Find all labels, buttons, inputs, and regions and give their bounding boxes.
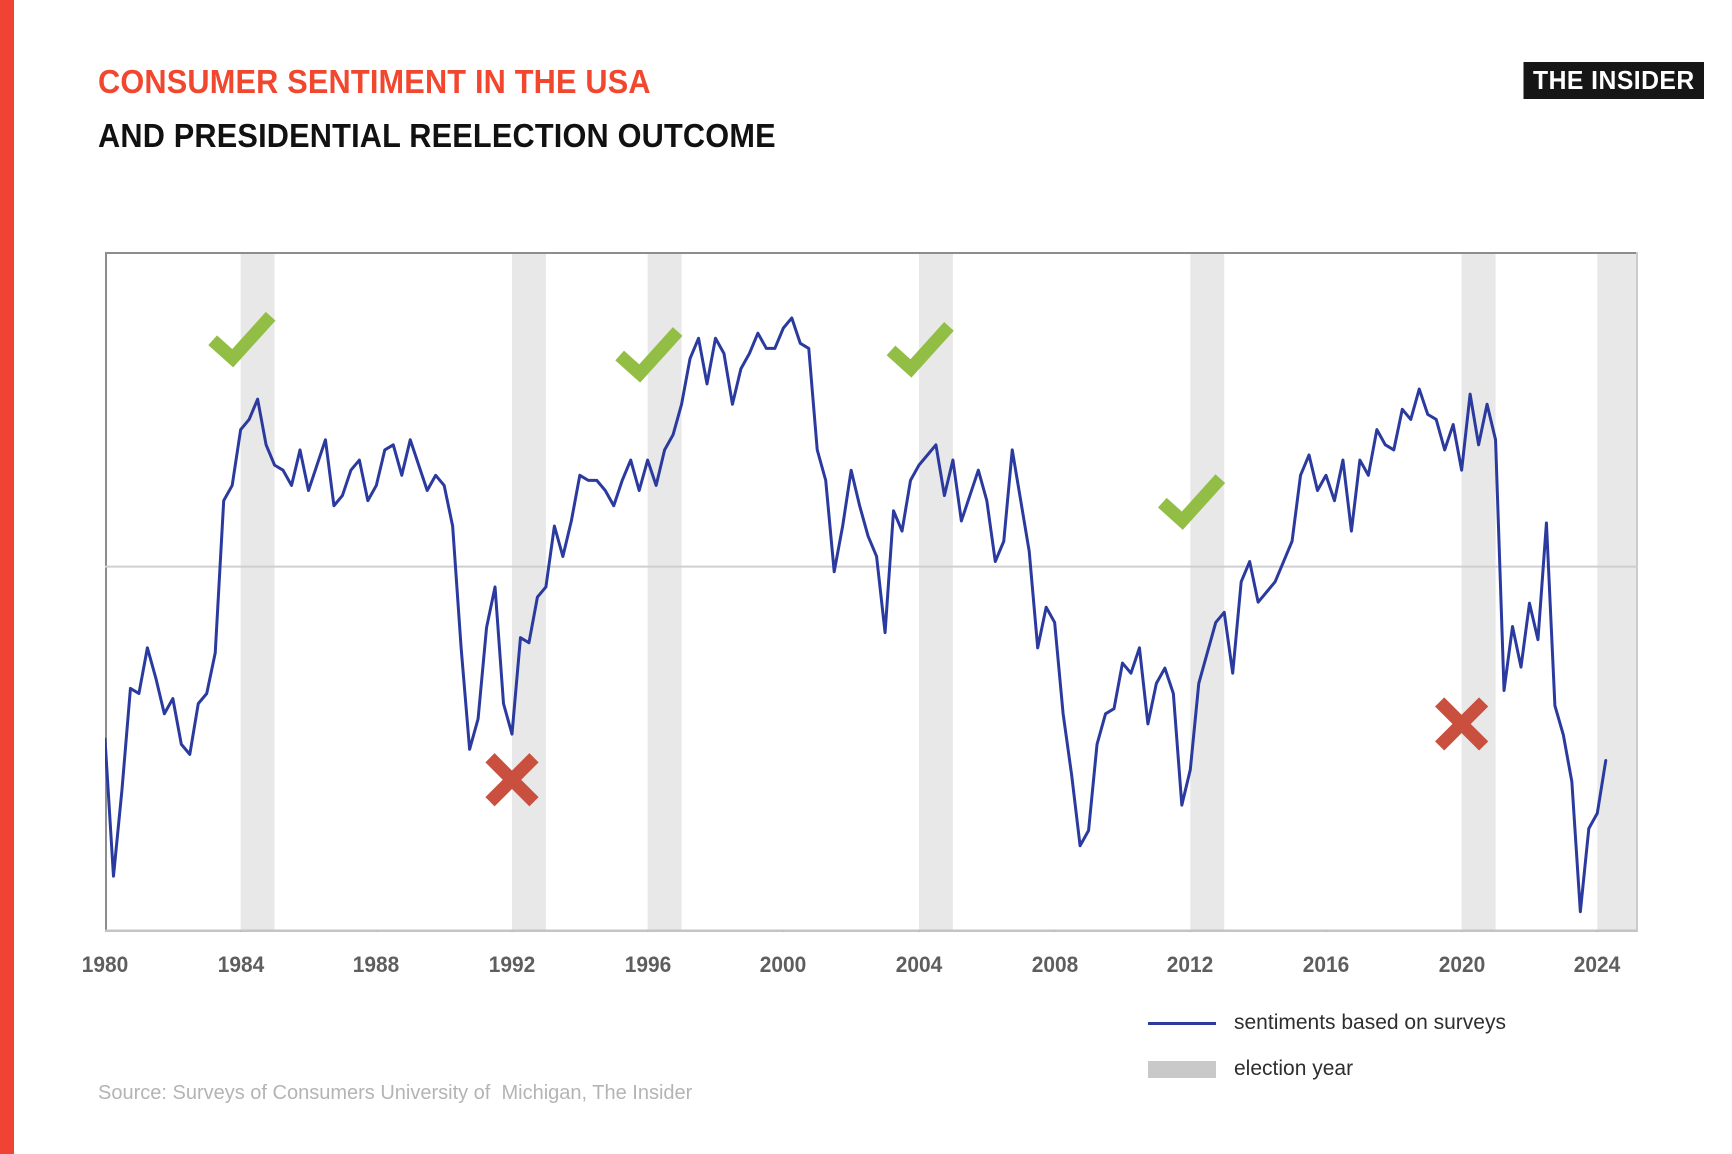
x-axis-label: 2016 <box>1303 952 1350 978</box>
page-title: CONSUMER SENTIMENT IN THE USA <box>98 62 776 102</box>
election-year-band <box>241 252 275 932</box>
insider-logo: THE INSIDER <box>1523 62 1704 99</box>
election-year-band <box>1462 252 1496 932</box>
chart-plot-area <box>105 252 1638 932</box>
legend-label: sentiments based on surveys <box>1234 1011 1506 1035</box>
page-subtitle: AND PRESIDENTIAL REELECTION OUTCOME <box>98 116 776 156</box>
election-year-band <box>1597 252 1638 932</box>
sentiment-line <box>105 318 1606 912</box>
x-axis-label: 2012 <box>1167 952 1214 978</box>
x-axis-label: 1996 <box>624 952 671 978</box>
x-axis-label: 2004 <box>896 952 943 978</box>
chart-legend: sentiments based on surveyselection year <box>1148 1006 1578 1098</box>
x-axis-label: 2024 <box>1574 952 1621 978</box>
x-axis-label: 2020 <box>1438 952 1485 978</box>
legend-item-sentiments: sentiments based on surveys <box>1148 1006 1578 1040</box>
x-axis-label: 1992 <box>489 952 536 978</box>
legend-box-swatch <box>1148 1061 1216 1078</box>
x-axis-label: 1984 <box>217 952 264 978</box>
x-axis-labels: 1980198419881992199620002004200820122016… <box>0 952 1732 992</box>
sentiment-line-chart <box>105 252 1638 932</box>
x-axis-label: 2008 <box>1031 952 1078 978</box>
legend-line-swatch <box>1148 1022 1216 1025</box>
x-axis-label: 1988 <box>353 952 400 978</box>
title-block: CONSUMER SENTIMENT IN THE USA AND PRESID… <box>98 62 827 156</box>
x-axis-label: 2000 <box>760 952 807 978</box>
election-year-band <box>1190 252 1224 932</box>
legend-label: election year <box>1234 1057 1353 1081</box>
slide-canvas: CONSUMER SENTIMENT IN THE USA AND PRESID… <box>0 0 1732 1154</box>
x-axis-label: 1980 <box>82 952 129 978</box>
legend-item-election-year: election year <box>1148 1052 1578 1086</box>
source-note: Source: Surveys of Consumers University … <box>98 1082 692 1105</box>
